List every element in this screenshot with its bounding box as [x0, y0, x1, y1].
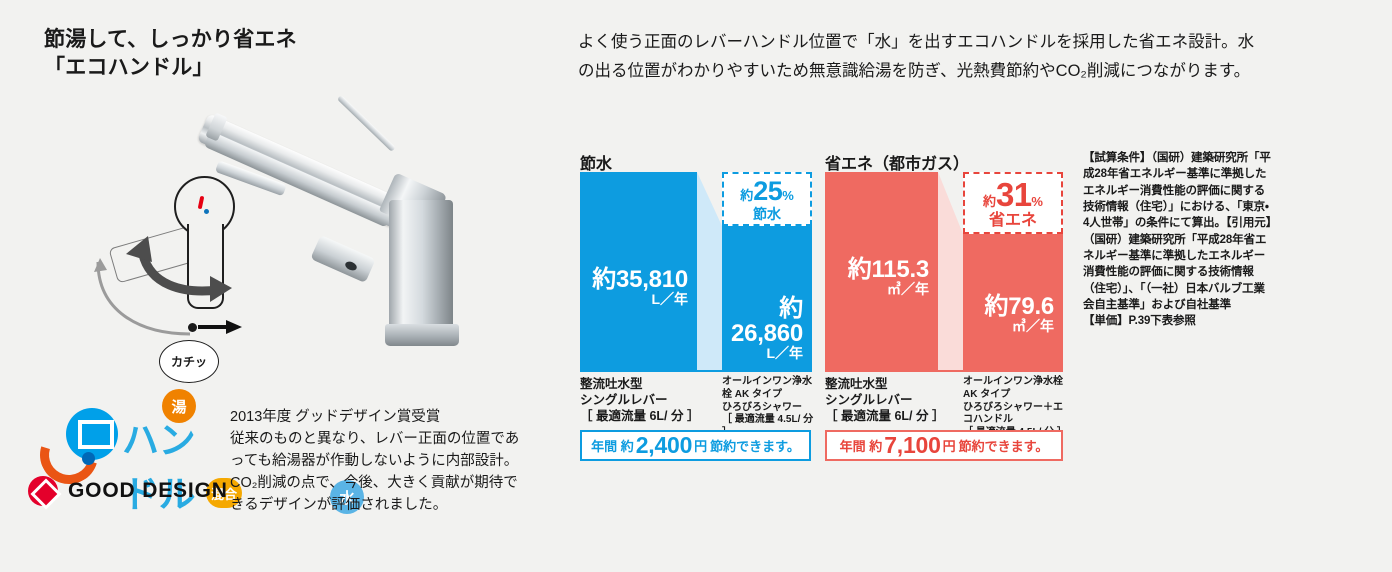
water-savings-unit: 円: [694, 436, 707, 455]
lead-copy: よく使う正面のレバーハンドル位置で「水」を出すエコハンドルを採用した省エネ設計。…: [578, 28, 1268, 85]
energy-callout-value: 31: [996, 178, 1031, 211]
handle-position-diagram: カチッ 湯 混合 水: [100, 168, 310, 383]
logo-dot-icon: [82, 452, 95, 465]
water-bar-standard-value: 約35,810: [592, 266, 688, 293]
handle-swing-arrow-icon: [118, 236, 234, 302]
energy-callout-suffix: %: [1031, 195, 1043, 208]
good-design-badge: GOOD DESIGN: [28, 476, 228, 508]
water-callout-value: 25: [753, 178, 782, 205]
chart-title-water: 節水: [580, 150, 612, 174]
chart-water: 約35,810 L／年 約26,860 L／年 約 25 % 節水: [580, 172, 812, 372]
water-savings-callout: 約 25 % 節水: [722, 172, 812, 226]
water-axis-line: [580, 370, 812, 372]
water-category-standard: 整流吐水型 シングルレバー ［ 最適流量 6L/ 分 ］: [580, 376, 698, 424]
logo-eco-mark-icon: [78, 420, 114, 449]
energy-savings-unit: 円: [943, 436, 956, 455]
cold-marker-icon: [204, 209, 209, 214]
water-savings-suffix: 節約できます。: [710, 436, 800, 455]
chart-title-energy: 省エネ（都市ガス）: [825, 150, 969, 174]
energy-callout-prefix: 約: [983, 195, 996, 208]
click-pivot-dot: [188, 323, 197, 332]
water-bar-eco-unit: L／年: [722, 346, 803, 361]
faucet-nozzle: [310, 235, 375, 283]
energy-bar-standard: 約115.3 ㎥／年: [825, 172, 938, 372]
energy-wedge-connector: [938, 172, 963, 372]
water-bar-eco: 約26,860 L／年: [722, 226, 812, 372]
faucet-base: [385, 324, 459, 346]
water-callout-suffix: %: [782, 189, 794, 202]
energy-bar-eco: 約79.6 ㎥／年: [963, 234, 1063, 372]
eco-handle-logo: ハンドル: [30, 406, 225, 462]
energy-savings-callout: 約 31 % 省エネ: [963, 172, 1063, 234]
click-callout-bubble: カチッ: [159, 340, 219, 383]
water-bar-standard-unit: L／年: [580, 292, 688, 307]
infographic-root: 節湯して、しっかり省エネ 「エコハンドル」: [0, 0, 1392, 572]
faucet-body: [389, 200, 453, 335]
chart-energy: 約115.3 ㎥／年 約79.6 ㎥／年 約 31 % 省エネ: [825, 172, 1063, 372]
award-description: 2013年度 グッドデザイン賞受賞 従来のものと異なり、レバー正面の位置であって…: [230, 406, 530, 516]
energy-bar-eco-value: 約79.6: [984, 293, 1054, 320]
water-bar-standard: 約35,810 L／年: [580, 172, 697, 372]
energy-bar-standard-value: 約115.3: [848, 256, 929, 283]
page-title: 節湯して、しっかり省エネ 「エコハンドル」: [44, 26, 464, 81]
faucet-pull-rod: [337, 95, 396, 152]
good-design-label: GOOD DESIGN: [68, 479, 228, 503]
energy-savings-prefix: 年間 約: [840, 436, 883, 455]
footnote-text: 【試算条件】（国研）建築研究所「平成28年省エネルギー基準に準拠したエネルギー消…: [1083, 150, 1273, 330]
energy-savings-suffix: 節約できます。: [959, 436, 1049, 455]
water-callout-prefix: 約: [740, 189, 753, 202]
water-callout-line2: 節水: [753, 207, 781, 221]
energy-bar-standard-unit: ㎥／年: [825, 282, 929, 297]
energy-savings-value: 7,100: [884, 432, 940, 459]
water-bar-eco-value: 約26,860: [731, 295, 803, 347]
water-annual-savings-box: 年間 約 2,400 円 節約できます。: [580, 430, 811, 461]
energy-axis-line: [825, 370, 1063, 372]
water-savings-value: 2,400: [636, 432, 692, 459]
energy-annual-savings-box: 年間 約 7,100 円 節約できます。: [825, 430, 1063, 461]
water-wedge-connector: [697, 172, 722, 372]
energy-callout-line2: 省エネ: [989, 213, 1037, 229]
water-savings-prefix: 年間 約: [591, 436, 634, 455]
energy-category-standard: 整流吐水型 シングルレバー ［ 最適流量 6L/ 分 ］: [825, 376, 943, 424]
cold-direction-arrow-icon: [198, 320, 242, 334]
energy-bar-eco-unit: ㎥／年: [963, 319, 1054, 334]
logo-eco-bar-icon: [82, 428, 102, 432]
